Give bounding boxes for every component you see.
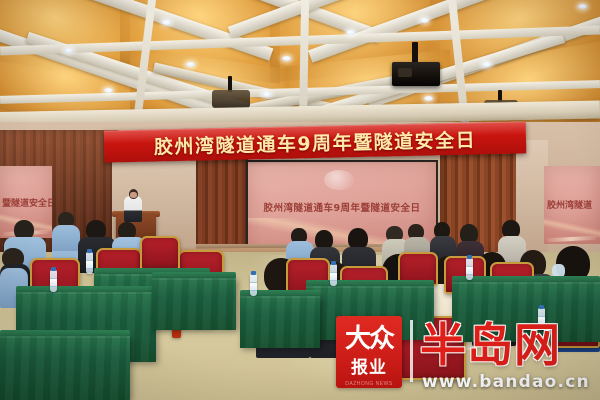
bottle-cap: [87, 249, 92, 253]
bottle-label: [466, 266, 473, 275]
bottle-cap: [467, 255, 472, 259]
bridge-graphic: [544, 213, 600, 244]
bandao-url-text: www.bandao.cn: [422, 372, 592, 392]
bottle-label: [330, 272, 337, 281]
ceiling-downlight: [64, 48, 73, 53]
screen-watermark-logo: [324, 170, 354, 190]
bottle-cap: [251, 271, 256, 275]
ceiling-downlight: [162, 20, 171, 25]
ceiling-downlight: [104, 88, 113, 93]
bottle-label: [250, 282, 257, 291]
projection-screen-right: 胶州湾隧道: [544, 166, 600, 244]
bottle-label: [50, 278, 57, 287]
event-banner-text: 胶州湾隧道通车9周年暨隧道安全日: [154, 125, 477, 159]
screen-center-title: 胶州湾隧道通车9周年暨隧道安全日: [248, 200, 436, 214]
bandao-brand-text: 半岛网: [420, 316, 594, 374]
draped-table: [240, 296, 320, 348]
water-bottle: [86, 252, 93, 274]
ceiling-downlight: [262, 92, 271, 97]
water-bottle: [330, 264, 337, 286]
screen-right-title: 胶州湾隧道: [544, 198, 600, 211]
ceiling-downlight: [186, 62, 195, 67]
projector-mount-pole: [412, 42, 418, 64]
person-torso: [52, 225, 80, 251]
conference-hall-photo: 暨隧道安全日 胶州湾隧道通车9周年暨隧道安全日 胶州湾隧道 胶州湾隧道通车9周年…: [0, 0, 600, 400]
bottle-cap: [51, 267, 56, 271]
bottle-cap: [539, 305, 544, 309]
water-bottle: [466, 258, 473, 280]
logo-bottom-text: 报业: [336, 356, 402, 380]
logo-top-text: 大众: [336, 320, 402, 358]
wood-panel-center: [192, 146, 248, 258]
water-bottle: [250, 274, 257, 296]
ceiling-downlight: [420, 18, 429, 23]
watermark: 大众 报业 DAZHONG NEWS 半岛网 www.bandao.cn: [336, 314, 594, 398]
dazhong-news-logo: 大众 报业 DAZHONG NEWS: [336, 316, 402, 388]
bridge-deck: [547, 236, 596, 243]
draped-table: [152, 278, 236, 330]
ceiling-downlight: [282, 56, 291, 61]
water-bottle: [50, 270, 57, 292]
ceiling-downlight: [578, 4, 587, 9]
ceiling-downlight: [482, 62, 491, 67]
screen-left-title: 暨隧道安全日: [0, 196, 52, 209]
bottle-cap: [331, 261, 336, 265]
speaker-face: [130, 192, 137, 198]
watermark-divider: [410, 320, 413, 382]
banquet-chair: [140, 236, 180, 270]
logo-english-text: DAZHONG NEWS: [336, 381, 402, 387]
draped-table: [0, 336, 130, 400]
speaker-torso: [124, 196, 142, 222]
ceiling-downlight: [424, 96, 433, 101]
ceiling-projector: [212, 90, 250, 108]
ceiling-downlight: [346, 30, 355, 35]
bottle-label: [86, 260, 93, 269]
projector-lens: [398, 68, 412, 77]
